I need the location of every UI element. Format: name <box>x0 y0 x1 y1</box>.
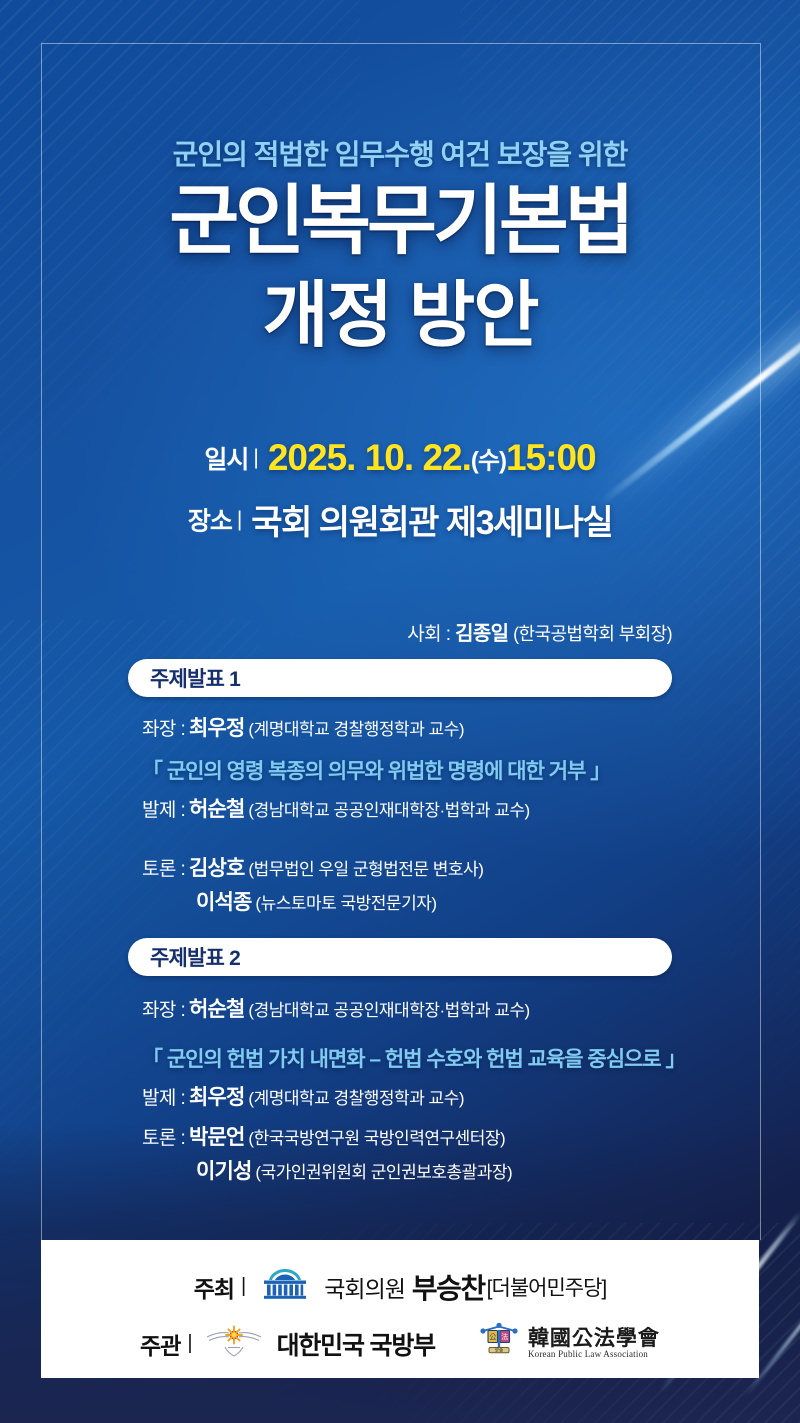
session-2-discussant-1-affiliation: (한국국방연구원 국방인력연구센터장) <box>248 1129 505 1148</box>
kpla-emblem-icon: 公 法 學會 <box>477 1322 521 1365</box>
session-1-presenter-name: 허순철 <box>189 798 245 821</box>
date-label: 일시 <box>204 446 248 474</box>
session-header-1: 주제발표 1 <box>128 659 672 697</box>
host-role: 국회의원 <box>324 1270 405 1304</box>
footer-band: 주최 | <box>41 1240 759 1378</box>
session-2-chair-affiliation: (경남대학교 공공인재대학장·법학과 교수) <box>248 1001 529 1020</box>
host-party: [더불어민주당] <box>487 1272 607 1302</box>
session-1-chair-name: 최우정 <box>189 717 245 740</box>
kpla-name-han: 韓國公法學會 <box>528 1325 660 1350</box>
footer-host-row: 주최 | <box>41 1266 759 1307</box>
session-2-presenter-label: 발제 : <box>142 1088 185 1109</box>
svg-text:公: 公 <box>489 1333 496 1341</box>
session-2-chair-row: 좌장 : 허순철 (경남대학교 공공인재대학장·법학과 교수) <box>142 993 702 1023</box>
event-venue-line: 장소|국회 의원회관 제3세미나실 <box>0 495 800 544</box>
session-2-presenter-name: 최우정 <box>189 1086 245 1109</box>
moderator-line: 사회 : 김종일 (한국공법학회 부회장) <box>0 617 672 646</box>
venue-label: 장소 <box>188 508 232 536</box>
session-1-discussant-row-1: 토론 : 김상호 (법무법인 우일 군형법전문 변호사) <box>142 852 702 882</box>
mnd-emblem-icon <box>203 1323 265 1364</box>
date-value: 2025. 10. 22. <box>268 437 471 478</box>
date-time: 15:00 <box>506 437 596 478</box>
national-assembly-icon <box>256 1266 314 1307</box>
session-1-discussant-row-2: 이석종 (뉴스토마토 국방전문기자) <box>196 886 756 916</box>
event-date-line: 일시|2025. 10. 22.(수)15:00 <box>0 437 800 479</box>
session-2-discussant-2-affiliation: (국가인권위원회 군인권보호총괄과장) <box>255 1163 512 1182</box>
session-1-chair-label: 좌장 : <box>142 719 185 740</box>
session-1-topic: 「 군인의 영령 복종의 의무와 위법한 명령에 대한 거부 」 <box>142 755 722 785</box>
session-2-discussant-2-name: 이기성 <box>196 1160 252 1183</box>
organizer-separator: | <box>187 1332 192 1355</box>
session-1-chair-affiliation: (계명대학교 경찰행정학과 교수) <box>248 720 464 739</box>
session-header-2-label: 주제발표 2 <box>150 942 240 972</box>
moderator-affiliation: (한국공법학회 부회장) <box>513 624 672 644</box>
session-1-chair-row: 좌장 : 최우정 (계명대학교 경찰행정학과 교수) <box>142 712 702 742</box>
session-header-1-label: 주제발표 1 <box>150 663 240 693</box>
seminar-poster: 군인의 적법한 임무수행 여건 보장을 위한 군인복무기본법 개정 방안 일시|… <box>0 0 800 1423</box>
session-2-chair-name: 허순철 <box>189 998 245 1021</box>
session-1-discussion-label: 토론 : <box>142 859 185 880</box>
session-2-topic: 「 군인의 헌법 가치 내면화 – 헌법 수호와 헌법 교육을 중심으로 」 <box>142 1043 722 1073</box>
footer-organizer-row: 주관 | <box>41 1322 759 1365</box>
host-name: 부승찬 <box>412 1267 485 1307</box>
host-separator: | <box>241 1275 246 1298</box>
session-1-presenter-affiliation: (경남대학교 공공인재대학장·법학과 교수) <box>248 801 529 820</box>
moderator-name: 김종일 <box>455 623 508 645</box>
session-1-discussant-1-name: 김상호 <box>189 857 245 880</box>
session-2-discussion-label: 토론 : <box>142 1128 185 1149</box>
session-2-discussant-1-name: 박문언 <box>189 1126 245 1149</box>
kpla-wordmark: 韓國公法學會 Korean Public Law Association <box>528 1327 660 1359</box>
session-1-presenter-label: 발제 : <box>142 800 185 821</box>
poster-kicker: 군인의 적법한 임무수행 여건 보장을 위한 <box>0 133 800 173</box>
session-2-presenter-row: 발제 : 최우정 (계명대학교 경찰행정학과 교수) <box>142 1081 702 1111</box>
kpla-name-en: Korean Public Law Association <box>528 1350 660 1359</box>
ministry-name: 대한민국 국방부 <box>277 1326 435 1362</box>
session-2-presenter-affiliation: (계명대학교 경찰행정학과 교수) <box>248 1089 464 1108</box>
moderator-label: 사회 : <box>407 624 450 645</box>
session-1-discussant-2-affiliation: (뉴스토마토 국방전문기자) <box>255 894 436 913</box>
session-2-discussant-row-1: 토론 : 박문언 (한국국방연구원 국방인력연구센터장) <box>142 1121 702 1151</box>
svg-text:學會: 學會 <box>495 1347 504 1354</box>
poster-title-main: 군인복무기본법 <box>0 184 800 260</box>
session-1-presenter-row: 발제 : 허순철 (경남대학교 공공인재대학장·법학과 교수) <box>142 793 702 823</box>
session-2-chair-label: 좌장 : <box>142 1000 185 1021</box>
session-1-discussant-1-affiliation: (법무법인 우일 군형법전문 변호사) <box>248 860 483 879</box>
venue-value: 국회 의원회관 제3세미나실 <box>251 504 612 542</box>
session-2-discussant-row-2: 이기성 (국가인권위원회 군인권보호총괄과장) <box>196 1155 756 1185</box>
svg-text:法: 法 <box>501 1332 508 1341</box>
session-1-discussant-2-name: 이석종 <box>196 891 252 914</box>
host-label: 주최 <box>194 1270 234 1304</box>
venue-separator: | <box>237 508 242 531</box>
organizer-label: 주관 <box>140 1327 180 1361</box>
date-separator: | <box>253 446 258 469</box>
session-header-2: 주제발표 2 <box>128 938 672 976</box>
poster-title-sub: 개정 방안 <box>0 280 800 352</box>
date-weekday: (수) <box>471 448 506 475</box>
